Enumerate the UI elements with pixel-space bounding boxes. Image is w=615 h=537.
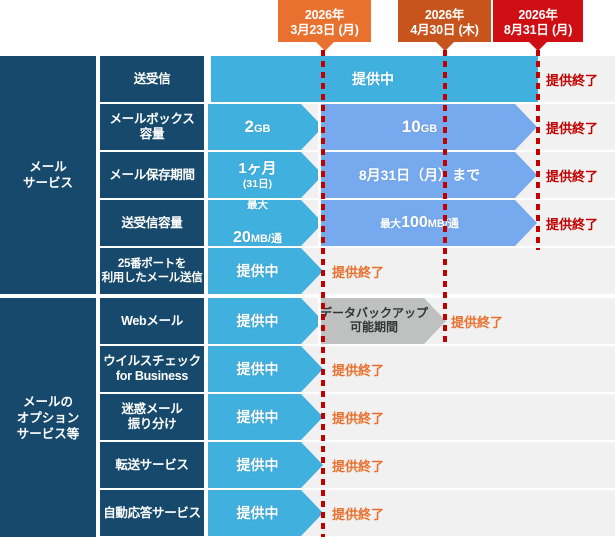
row-label-text: Webメール xyxy=(121,314,183,329)
segment-label: 提供中 xyxy=(208,71,538,87)
segment-label: 1ヶ月(31日) xyxy=(208,160,323,189)
segment-row-port25-0: 提供中 xyxy=(208,248,323,294)
milestone-year: 2026年 xyxy=(493,8,583,23)
segment-label: 最大20MB/通 xyxy=(208,199,323,248)
row-label-row-webmail: Webメール xyxy=(100,298,204,344)
row-label-text: メール保存期間 xyxy=(109,168,194,183)
segment-row-jidou-0: 提供中 xyxy=(208,490,323,536)
timeline-chart: メールサービス送受信提供中提供終了メールボックス容量2GB10GB提供終了メール… xyxy=(0,0,615,537)
segment-row-hozon-1: 8月31日（月）まで xyxy=(318,152,537,198)
segment-row-webmail-1: データバックアップ可能期間 xyxy=(318,298,446,344)
end-status-row-port25: 提供終了 xyxy=(332,262,384,281)
row-label-text: 送受信容量 xyxy=(121,216,182,231)
segment-row-spam-0: 提供中 xyxy=(208,394,323,440)
row-label-text: 送受信 xyxy=(134,72,171,87)
segment-label: 最大100MB/通 xyxy=(318,214,537,232)
segment-row-youryou-1: 最大100MB/通 xyxy=(318,200,537,246)
segment-label: データバックアップ可能期間 xyxy=(318,307,446,335)
segment-row-mailbox-0: 2GB xyxy=(208,104,323,150)
segment-label: 提供中 xyxy=(208,313,323,329)
end-status-row-virus: 提供終了 xyxy=(332,360,384,379)
category-label-mail-option: メールのオプションサービス等 xyxy=(0,298,96,537)
segment-label: 提供中 xyxy=(208,263,323,279)
milestone-m1: 2026年3月23日 (月) xyxy=(278,0,371,42)
category-label-text: メールのオプションサービス等 xyxy=(17,394,80,442)
end-status-row-jidou: 提供終了 xyxy=(332,504,384,523)
row-label-row-port25: 25番ポートを利用したメール送信 xyxy=(100,248,204,294)
category-label-mail-service: メールサービス xyxy=(0,56,96,294)
segment-label: 提供中 xyxy=(208,457,323,473)
row-label-text: 25番ポートを利用したメール送信 xyxy=(102,257,203,285)
row-label-row-tensou: 転送サービス xyxy=(100,442,204,488)
row-label-row-hozon: メール保存期間 xyxy=(100,152,204,198)
segment-label: 10GB xyxy=(318,117,537,137)
end-status-row-spam: 提供終了 xyxy=(332,408,384,427)
milestone-m2: 2026年4月30日 (木) xyxy=(398,0,491,42)
dashed-guide-m2 xyxy=(443,50,447,345)
row-label-text: メールボックス容量 xyxy=(109,112,194,142)
segment-divider xyxy=(208,56,211,102)
row-label-text: ウイルスチェックfor Business xyxy=(103,354,201,384)
row-track-row-virus: 提供中 xyxy=(208,346,615,392)
row-label-row-virus: ウイルスチェックfor Business xyxy=(100,346,204,392)
row-label-row-jidou: 自動応答サービス xyxy=(100,490,204,536)
end-status-row-hozon: 提供終了 xyxy=(546,166,598,185)
end-status-row-tensou: 提供終了 xyxy=(332,456,384,475)
segment-row-webmail-0: 提供中 xyxy=(208,298,323,344)
segment-label: 2GB xyxy=(208,117,323,137)
milestone-m3: 2026年8月31日 (月) xyxy=(493,0,583,42)
segment-row-youryou-0: 最大20MB/通 xyxy=(208,200,323,246)
milestone-date: 3月23日 (月) xyxy=(278,23,371,38)
row-track-row-webmail: 提供中データバックアップ可能期間 xyxy=(208,298,615,344)
segment-row-virus-0: 提供中 xyxy=(208,346,323,392)
segment-row-tensou-0: 提供中 xyxy=(208,442,323,488)
milestone-date: 8月31日 (月) xyxy=(493,23,583,38)
row-track-row-jidou: 提供中 xyxy=(208,490,615,536)
end-status-row-mailbox: 提供終了 xyxy=(546,118,598,137)
segment-label: 8月31日（月）まで xyxy=(318,167,537,183)
end-status-row-youryou: 提供終了 xyxy=(546,214,598,233)
dashed-guide-m3 xyxy=(536,50,540,250)
row-track-row-tensou: 提供中 xyxy=(208,442,615,488)
row-label-row-youryou: 送受信容量 xyxy=(100,200,204,246)
segment-row-hozon-0: 1ヶ月(31日) xyxy=(208,152,323,198)
milestone-date: 4月30日 (木) xyxy=(398,23,491,38)
segment-label: 提供中 xyxy=(208,409,323,425)
segment-row-mailbox-1: 10GB xyxy=(318,104,537,150)
row-label-text: 自動応答サービス xyxy=(103,506,201,521)
segment-label: 提供中 xyxy=(208,361,323,377)
row-track-row-port25: 提供中 xyxy=(208,248,615,294)
end-status-row-soujushin: 提供終了 xyxy=(546,70,598,89)
row-label-text: 迷惑メール振り分け xyxy=(121,402,182,432)
milestone-year: 2026年 xyxy=(278,8,371,23)
end-status-row-webmail: 提供終了 xyxy=(451,312,503,331)
row-label-text: 転送サービス xyxy=(115,458,188,473)
row-label-row-soujushin: 送受信 xyxy=(100,56,204,102)
category-label-text: メールサービス xyxy=(23,159,73,191)
row-label-row-spam: 迷惑メール振り分け xyxy=(100,394,204,440)
row-label-row-mailbox: メールボックス容量 xyxy=(100,104,204,150)
row-track-row-spam: 提供中 xyxy=(208,394,615,440)
milestone-year: 2026年 xyxy=(398,8,491,23)
dashed-guide-m1 xyxy=(321,50,325,537)
segment-label: 提供中 xyxy=(208,505,323,521)
